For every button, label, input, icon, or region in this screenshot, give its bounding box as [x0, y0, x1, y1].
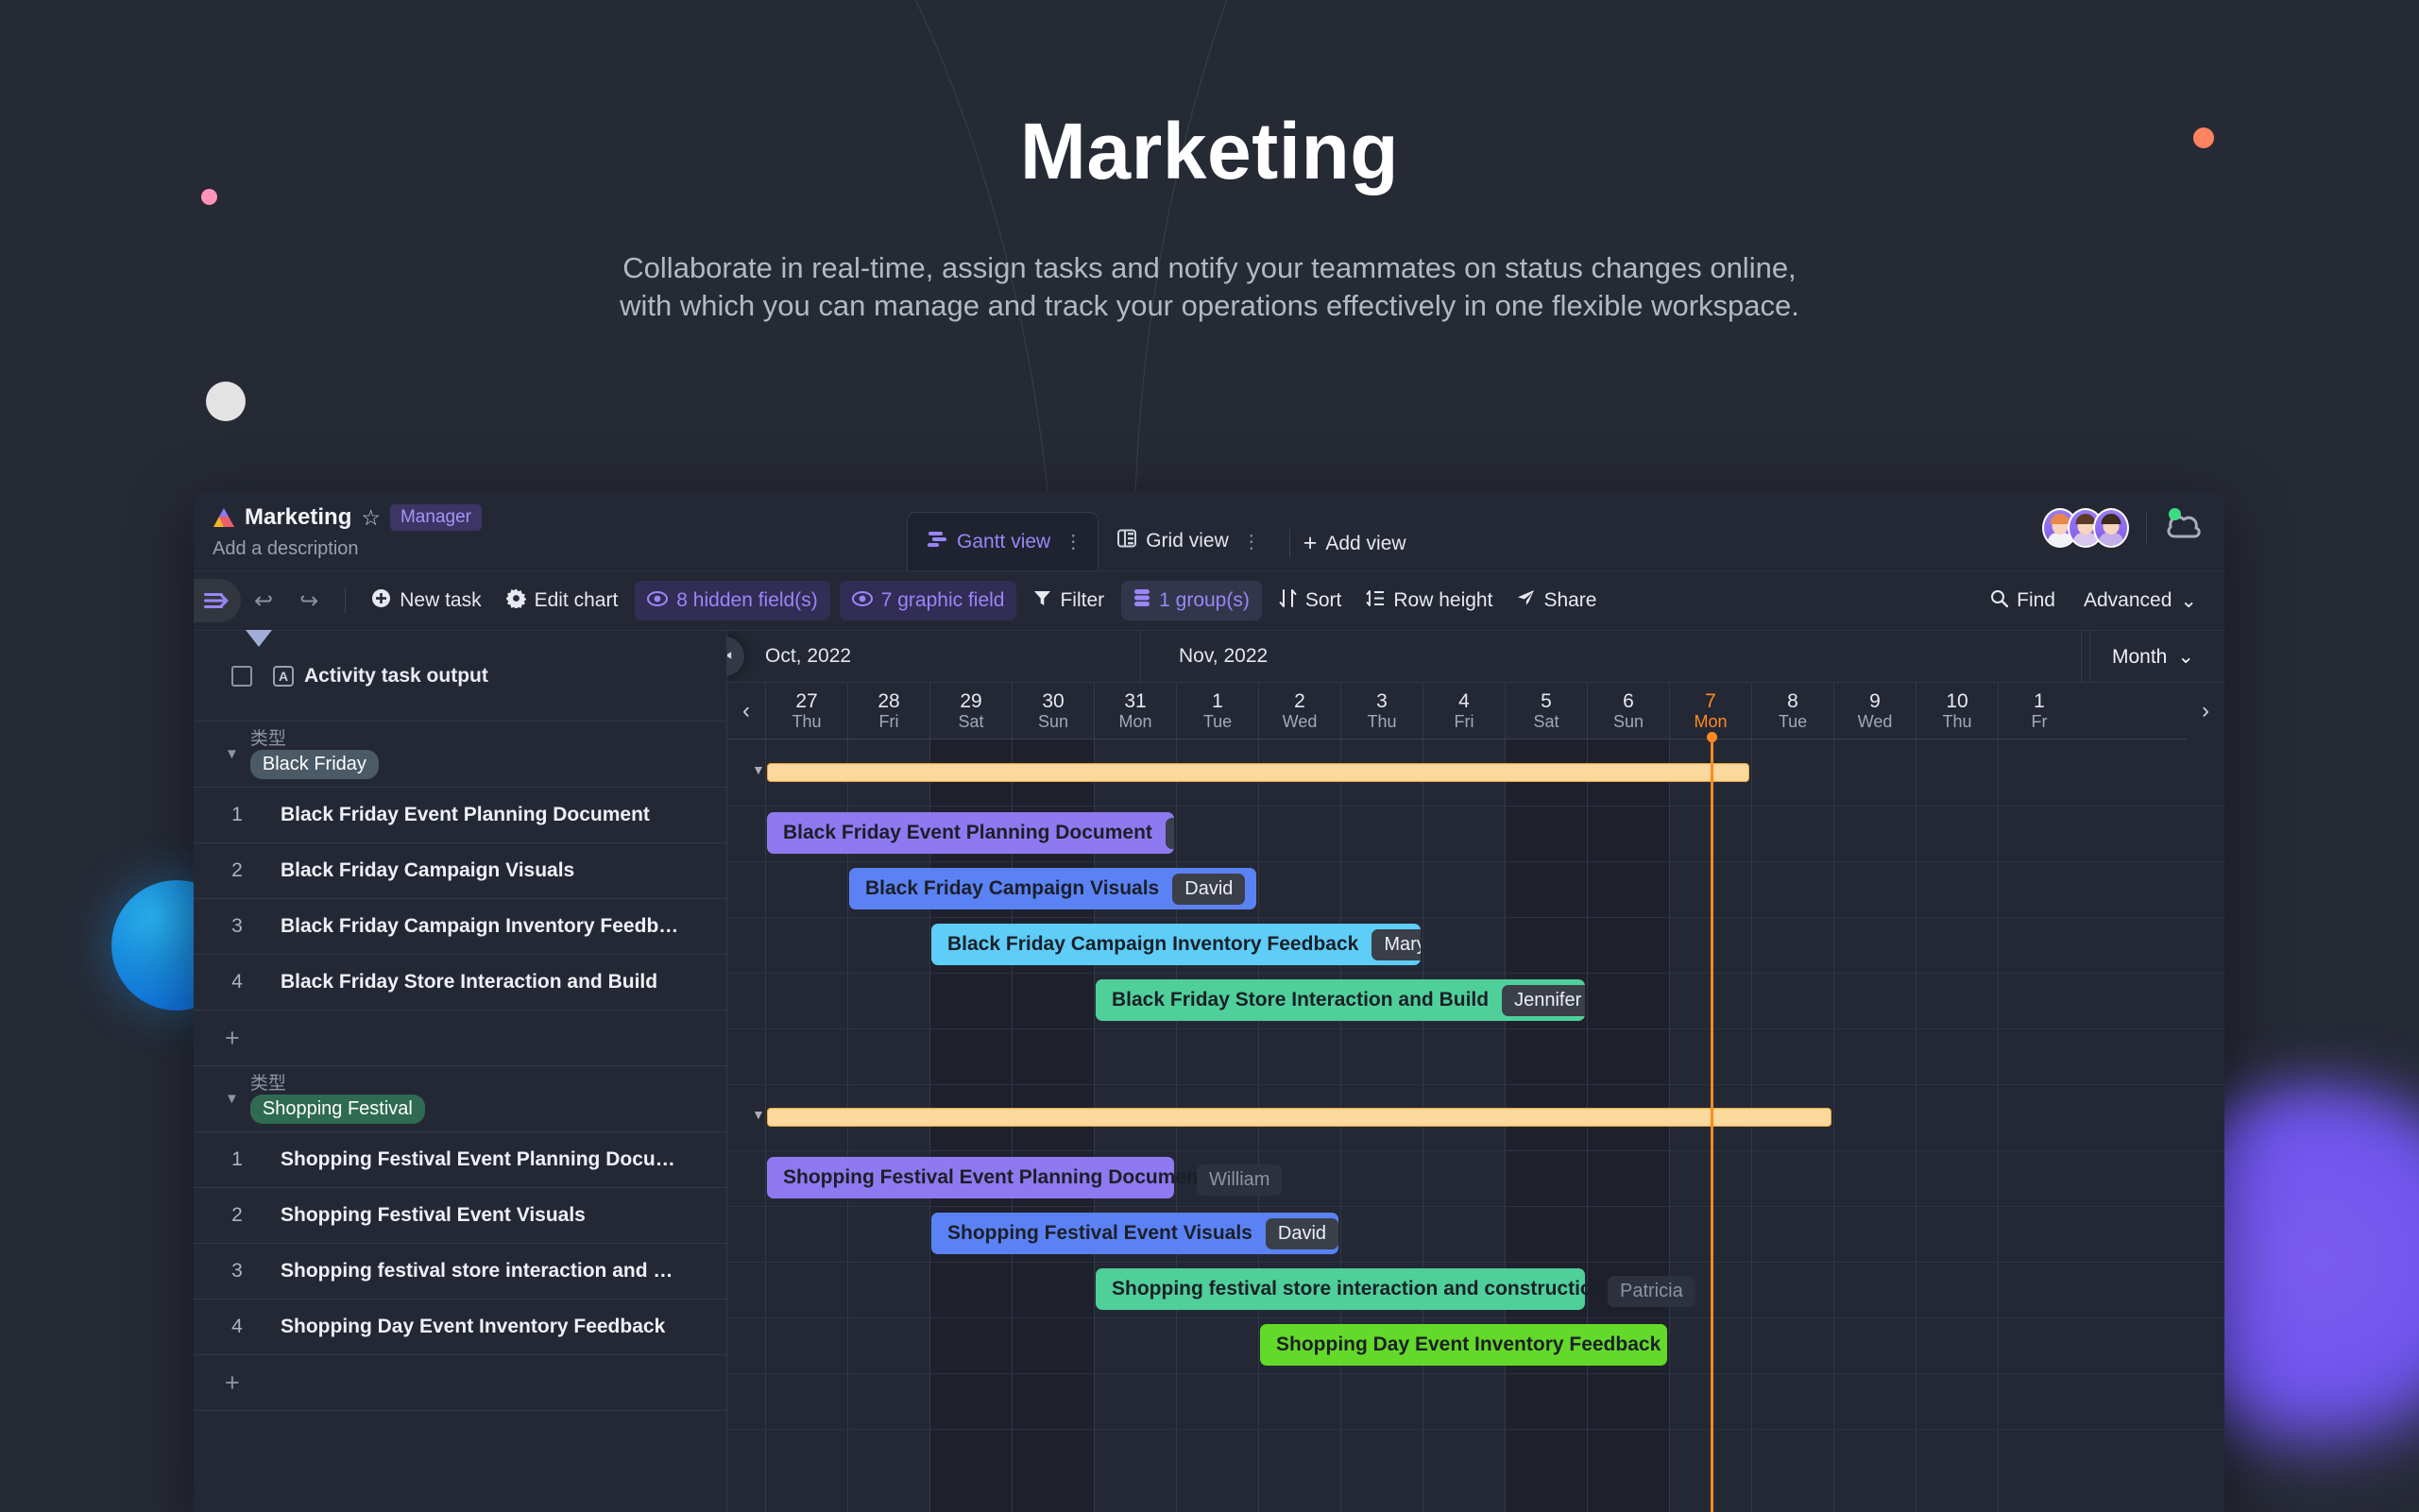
row-divider	[727, 973, 2224, 974]
table-row[interactable]: 1Black Friday Event Planning Document	[194, 788, 726, 843]
day-number: 2	[1294, 691, 1305, 712]
tab-gantt-kebab-icon[interactable]: ⋮	[1064, 530, 1082, 553]
grid-view-icon	[1117, 529, 1136, 553]
hero-subtitle-line-2: with which you can manage and track your…	[313, 287, 2107, 325]
today-marker-line	[1711, 739, 1713, 1512]
table-row[interactable]: 4Black Friday Store Interaction and Buil…	[194, 955, 726, 1011]
tab-gantt-view-label: Gantt view	[957, 531, 1050, 553]
row-divider	[727, 1206, 2224, 1207]
toolbar: ↩ ↪ New task Edit chart 8 hidden field	[194, 570, 2224, 631]
row-index: 4	[194, 1316, 281, 1338]
cloud-sync-icon[interactable]	[2164, 510, 2204, 547]
day-weekday: Sun	[1038, 713, 1068, 731]
advanced-button[interactable]: Advanced ⌄	[2071, 581, 2209, 620]
row-index: 2	[194, 859, 281, 882]
timeline-day-cell[interactable]: 6Sun	[1587, 683, 1669, 739]
row-divider	[727, 806, 2224, 807]
tabs-divider	[1289, 529, 1290, 557]
timeline-day-cell[interactable]: 1Fr	[1998, 683, 2080, 739]
summary-collapse-caret-icon[interactable]: ▼	[752, 762, 765, 777]
filter-icon	[1033, 589, 1051, 612]
gantt-body: A Activity task output ▼类型Black Friday1B…	[194, 631, 2224, 1512]
row-divider	[727, 917, 2224, 918]
assignee-badge[interactable]: Mary	[1371, 929, 1421, 960]
table-row[interactable]: 3Shopping festival store interaction and…	[194, 1244, 726, 1300]
group-summary-bar[interactable]: ▼	[767, 763, 1749, 782]
find-label: Find	[2017, 589, 2055, 612]
assignee-badge[interactable]: Jennifer	[1502, 985, 1585, 1016]
view-tabs: Gantt view ⋮ Grid view ⋮	[907, 491, 1406, 570]
text-field-icon: A	[273, 666, 294, 687]
row-height-icon	[1366, 589, 1385, 613]
group-field-label: 类型	[250, 730, 379, 748]
decorative-dot-white	[206, 382, 246, 421]
gantt-bar-label: Shopping Festival Event Visuals	[947, 1222, 1252, 1245]
task-name: Shopping Day Event Inventory Feedback	[281, 1316, 678, 1338]
month-label-nov: Nov, 2022	[1141, 631, 2090, 682]
filter-button[interactable]: Filter	[1021, 581, 1116, 620]
day-number: 3	[1376, 691, 1388, 712]
redo-icon[interactable]: ↪	[286, 587, 332, 615]
gantt-bar[interactable]: Shopping festival store interaction and …	[1096, 1268, 1585, 1310]
zoom-level-selector[interactable]: Month ⌄	[2081, 631, 2224, 683]
primary-field-header[interactable]: A Activity task output	[273, 665, 488, 688]
gantt-bar[interactable]: Black Friday Campaign VisualsDavid	[849, 868, 1256, 909]
timeline-day-cell[interactable]: 30Sun	[1012, 683, 1094, 739]
gantt-bar-label: Black Friday Campaign Inventory Feedback	[947, 933, 1358, 956]
timeline-day-cell[interactable]: 10Thu	[1916, 683, 1998, 739]
app-logo-icon	[213, 507, 235, 528]
timeline-day-cell[interactable]: 8Tue	[1751, 683, 1833, 739]
gantt-bar-label: Black Friday Event Planning Document	[783, 822, 1152, 844]
task-list-pane: A Activity task output ▼类型Black Friday1B…	[194, 631, 727, 1512]
app-header: Marketing ☆ Manager Add a description	[194, 491, 2224, 570]
day-weekday: Sat	[1533, 713, 1559, 731]
row-divider	[727, 1084, 2224, 1085]
page-title: Marketing	[0, 111, 2419, 191]
day-weekday: Fr	[2032, 713, 2048, 731]
table-row[interactable]: 1Shopping Festival Event Planning Docu…	[194, 1132, 726, 1188]
zoom-level-label: Month	[2112, 646, 2167, 669]
find-button[interactable]: Find	[1978, 581, 2068, 620]
row-height-label: Row height	[1393, 589, 1492, 612]
sync-status-dot	[2169, 508, 2181, 520]
sidebar-toggle-button[interactable]	[194, 579, 241, 622]
tab-grid-view-label: Grid view	[1146, 530, 1229, 552]
task-name: Shopping festival store interaction and …	[281, 1260, 686, 1283]
timeline-gridline	[765, 739, 766, 1512]
table-row[interactable]: 4Shopping Day Event Inventory Feedback	[194, 1300, 726, 1355]
day-number: 8	[1787, 691, 1798, 712]
group-chip: Shopping Festival	[250, 1095, 425, 1124]
row-divider	[727, 861, 2224, 862]
hidden-fields-button[interactable]: 8 hidden field(s)	[635, 581, 829, 620]
day-number: 9	[1869, 691, 1881, 712]
graphic-fields-label: 7 graphic field	[881, 589, 1005, 612]
new-task-label: New task	[400, 589, 481, 612]
row-height-button[interactable]: Row height	[1354, 581, 1505, 620]
row-divider	[727, 1317, 2224, 1318]
task-name: Shopping Festival Event Planning Docu…	[281, 1148, 689, 1171]
hero-subtitle-line-1: Collaborate in real-time, assign tasks a…	[313, 249, 2107, 287]
day-weekday: Tue	[1779, 713, 1807, 731]
timeline-day-cell[interactable]: 9Wed	[1833, 683, 1916, 739]
day-number: 27	[795, 691, 817, 712]
gantt-view-icon	[927, 531, 947, 553]
group-field-label: 类型	[250, 1075, 425, 1093]
sort-label: Sort	[1305, 589, 1342, 612]
graphic-fields-button[interactable]: 7 graphic field	[840, 581, 1017, 620]
day-weekday: Fri	[1455, 713, 1474, 731]
day-number: 28	[877, 691, 899, 712]
favorite-star-icon[interactable]: ☆	[361, 507, 381, 529]
workspace-info: Marketing ☆ Manager Add a description	[194, 491, 482, 560]
day-number: 29	[960, 691, 981, 712]
add-view-label: Add view	[1325, 533, 1405, 555]
gantt-bar[interactable]: Shopping Festival Event VisualsDavid	[931, 1213, 1338, 1254]
gantt-bar[interactable]: Shopping Day Event Inventory Feedback	[1260, 1324, 1667, 1366]
timeline-gridline	[1998, 739, 1999, 1512]
role-badge[interactable]: Manager	[390, 504, 482, 531]
day-number: 10	[1946, 691, 1968, 712]
table-row[interactable]: 2Black Friday Campaign Visuals	[194, 843, 726, 899]
share-label: Share	[1543, 589, 1596, 612]
day-number: 1	[2034, 691, 2045, 712]
search-icon	[1990, 589, 2008, 613]
timeline-day-cell[interactable]: 7Mon	[1669, 683, 1751, 739]
plus-icon: +	[1303, 532, 1318, 555]
app-window: Marketing ☆ Manager Add a description	[194, 491, 2224, 1512]
undo-icon[interactable]: ↩	[241, 587, 286, 615]
assignee-badge[interactable]: Patricia	[1608, 1276, 1695, 1307]
timeline-canvas: ▼Black Friday Event Planning DocumentRic…	[727, 739, 2224, 1512]
table-row[interactable]: 2Shopping Festival Event Visuals	[194, 1188, 726, 1244]
day-number: 1	[1212, 691, 1223, 712]
plus-circle-icon	[371, 588, 391, 614]
timeline-gridline	[1833, 739, 1834, 1512]
assignee-badge[interactable]: Richard	[1166, 818, 1174, 849]
row-index: 3	[194, 915, 281, 938]
tab-grid-view[interactable]: Grid view ⋮	[1099, 512, 1276, 570]
chevron-down-icon: ⌄	[2180, 589, 2197, 613]
primary-field-label: Activity task output	[304, 665, 488, 688]
workspace-name: Marketing	[245, 504, 351, 531]
timeline-day-header: ‹ 27Thu28Fri29Sat30Sun31Mon1Tue2Wed3Thu4…	[727, 683, 2224, 739]
new-task-button[interactable]: New task	[359, 581, 493, 620]
group-icon	[1133, 588, 1150, 613]
gantt-bar-label: Black Friday Store Interaction and Build	[1112, 989, 1489, 1011]
timeline-day-cell[interactable]: 28Fri	[847, 683, 929, 739]
row-divider	[727, 1373, 2224, 1374]
edit-chart-label: Edit chart	[535, 589, 619, 612]
header-divider	[2146, 512, 2147, 544]
day-number: 31	[1124, 691, 1146, 712]
eye-icon	[647, 589, 668, 612]
gantt-bar[interactable]: Black Friday Store Interaction and Build…	[1096, 979, 1585, 1021]
timeline-day-cell[interactable]: 2Wed	[1258, 683, 1340, 739]
timeline-day-cell[interactable]: 4Fri	[1422, 683, 1505, 739]
task-name: Black Friday Campaign Visuals	[281, 859, 588, 882]
hero-section: Marketing Collaborate in real-time, assi…	[0, 0, 2419, 324]
day-weekday: Thu	[1942, 713, 1971, 731]
row-index: 1	[194, 804, 281, 826]
month-label-oct: Oct, 2022	[727, 631, 1141, 682]
task-name: Black Friday Store Interaction and Build	[281, 971, 671, 994]
row-index: 2	[194, 1204, 281, 1227]
day-number: 6	[1623, 691, 1634, 712]
group-collapse-caret-icon[interactable]: ▼	[225, 1091, 239, 1107]
timeline-day-cell[interactable]: 31Mon	[1094, 683, 1176, 739]
day-weekday: Sun	[1613, 713, 1644, 731]
assignee-badge[interactable]: David	[1266, 1218, 1338, 1249]
edit-chart-button[interactable]: Edit chart	[494, 581, 631, 620]
description-placeholder[interactable]: Add a description	[213, 538, 482, 560]
add-view-button[interactable]: + Add view	[1303, 512, 1406, 570]
page-root: Marketing Collaborate in real-time, assi…	[0, 0, 2419, 1512]
day-weekday: Thu	[1367, 713, 1396, 731]
gear-icon	[506, 588, 526, 614]
timeline-gridline	[1916, 739, 1916, 1512]
add-task-row[interactable]: +	[194, 1355, 726, 1411]
summary-collapse-caret-icon[interactable]: ▼	[752, 1107, 765, 1122]
chevron-down-icon: ⌄	[2177, 645, 2194, 669]
group-header-row[interactable]: ▼类型Shopping Festival	[194, 1066, 726, 1132]
send-icon	[1517, 589, 1535, 612]
share-button[interactable]: Share	[1505, 581, 1609, 620]
day-weekday: Sat	[958, 713, 983, 731]
timeline-day-cell[interactable]: 5Sat	[1505, 683, 1587, 739]
row-divider	[727, 1262, 2224, 1263]
add-task-row[interactable]: +	[194, 1011, 726, 1066]
day-weekday: Tue	[1203, 713, 1232, 731]
task-name: Black Friday Event Planning Document	[281, 804, 663, 826]
timeline-pane: ⏮ Oct, 2022 Nov, 2022 Month ⌄ ‹ 27Thu28F…	[727, 631, 2224, 1512]
day-weekday: Wed	[1283, 713, 1318, 731]
next-period-button[interactable]: ›	[2187, 683, 2224, 739]
sort-button[interactable]: Sort	[1267, 581, 1354, 620]
row-divider	[727, 1028, 2224, 1029]
timeline-day-cell[interactable]: 3Thu	[1340, 683, 1422, 739]
task-name: Shopping Festival Event Visuals	[281, 1204, 599, 1227]
day-weekday: Mon	[1118, 713, 1151, 731]
hidden-fields-label: 8 hidden field(s)	[676, 589, 817, 612]
task-name: Black Friday Campaign Inventory Feedb…	[281, 915, 691, 938]
avatar[interactable]	[2093, 508, 2129, 548]
table-row[interactable]: 3Black Friday Campaign Inventory Feedb…	[194, 899, 726, 955]
header-right	[2042, 508, 2204, 548]
row-index: 3	[194, 1260, 281, 1283]
day-weekday: Mon	[1694, 713, 1727, 731]
toolbar-divider	[345, 587, 346, 614]
assignee-badge[interactable]: David	[1172, 874, 1245, 905]
day-weekday: Fri	[879, 713, 899, 731]
tab-grid-kebab-icon[interactable]: ⋮	[1242, 530, 1261, 553]
group-summary-bar[interactable]: ▼	[767, 1108, 1831, 1127]
select-all-checkbox[interactable]	[231, 666, 252, 687]
advanced-label: Advanced	[2084, 589, 2172, 612]
gantt-bar[interactable]: Black Friday Event Planning DocumentRich…	[767, 812, 1174, 854]
toolbar-right: Find Advanced ⌄	[1978, 581, 2209, 620]
filter-label: Filter	[1060, 589, 1104, 612]
assignee-badge[interactable]: William	[1197, 1164, 1282, 1196]
collaborator-avatars[interactable]	[2042, 508, 2129, 548]
task-list-header: A Activity task output	[194, 631, 726, 722]
prev-period-button[interactable]: ‹	[727, 683, 765, 739]
group-collapse-caret-icon[interactable]: ▼	[225, 746, 239, 762]
tab-gantt-view[interactable]: Gantt view ⋮	[907, 512, 1099, 570]
sort-icon	[1279, 589, 1297, 613]
day-number: 30	[1042, 691, 1064, 712]
gantt-bar-label: Black Friday Campaign Visuals	[865, 877, 1159, 900]
row-divider	[727, 1429, 2224, 1430]
day-number: 7	[1705, 691, 1716, 712]
timeline-day-cell[interactable]: 27Thu	[765, 683, 847, 739]
timeline-month-header: Oct, 2022 Nov, 2022 Month ⌄	[727, 631, 2224, 683]
groups-label: 1 group(s)	[1159, 589, 1250, 612]
hero-subtitle: Collaborate in real-time, assign tasks a…	[313, 249, 2107, 324]
gantt-bar[interactable]: Shopping Festival Event Planning Documen…	[767, 1157, 1174, 1198]
row-divider	[727, 1150, 2224, 1151]
day-weekday: Thu	[792, 713, 821, 731]
gantt-bar-label: Shopping festival store interaction and …	[1112, 1278, 1605, 1300]
day-number: 5	[1541, 691, 1552, 712]
day-number: 4	[1458, 691, 1470, 712]
timeline-day-cell[interactable]: 1Tue	[1176, 683, 1258, 739]
group-chip: Black Friday	[250, 750, 379, 779]
gantt-bar-label: Shopping Day Event Inventory Feedback	[1276, 1334, 1661, 1356]
day-weekday: Wed	[1858, 713, 1893, 731]
row-index: 4	[194, 971, 281, 994]
group-header-row[interactable]: ▼类型Black Friday	[194, 722, 726, 788]
resize-corner-indicator	[246, 630, 272, 647]
row-index: 1	[194, 1148, 281, 1171]
timeline-day-cell[interactable]: 29Sat	[929, 683, 1012, 739]
gantt-bar[interactable]: Black Friday Campaign Inventory Feedback…	[931, 924, 1421, 965]
task-list-rows: ▼类型Black Friday1Black Friday Event Plann…	[194, 722, 726, 1411]
eye-icon	[852, 589, 873, 612]
groups-button[interactable]: 1 group(s)	[1121, 581, 1262, 620]
gantt-bar-label: Shopping Festival Event Planning Documen…	[783, 1166, 1205, 1189]
